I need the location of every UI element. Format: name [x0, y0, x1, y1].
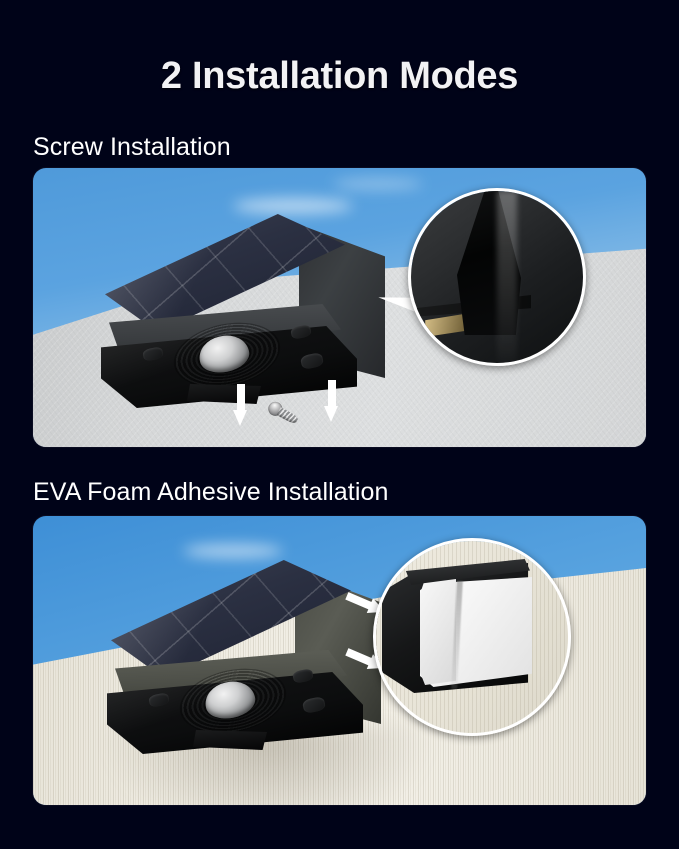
arrow-shaft	[328, 380, 336, 408]
screw-installation-scene	[33, 168, 646, 447]
arrow-shaft	[237, 384, 245, 412]
foam-pad-liner	[420, 579, 456, 685]
mounting-tab	[193, 730, 267, 750]
arrow-head	[324, 406, 338, 422]
mounting-tab	[187, 384, 261, 404]
installation-modes-infographic: 2 Installation Modes Screw Installation	[0, 0, 679, 849]
solar-light-fixture	[101, 554, 381, 754]
page-title: 2 Installation Modes	[0, 55, 679, 98]
eva-foam-pad-callout	[373, 538, 571, 736]
section-heading-eva-foam-installation: EVA Foam Adhesive Installation	[33, 478, 389, 507]
screw-installation-image-panel	[33, 168, 646, 447]
down-arrow-icon	[324, 380, 339, 422]
cloud-icon	[333, 178, 423, 190]
bracket-gloss	[497, 191, 517, 363]
solar-light-fixture	[95, 208, 385, 413]
arrow-head	[233, 410, 247, 426]
screw-bracket-callout	[408, 188, 586, 366]
eva-foam-installation-image-panel	[33, 516, 646, 805]
eva-foam-installation-scene	[33, 516, 646, 805]
section-heading-screw-installation: Screw Installation	[33, 133, 231, 162]
down-arrow-icon	[233, 384, 248, 426]
